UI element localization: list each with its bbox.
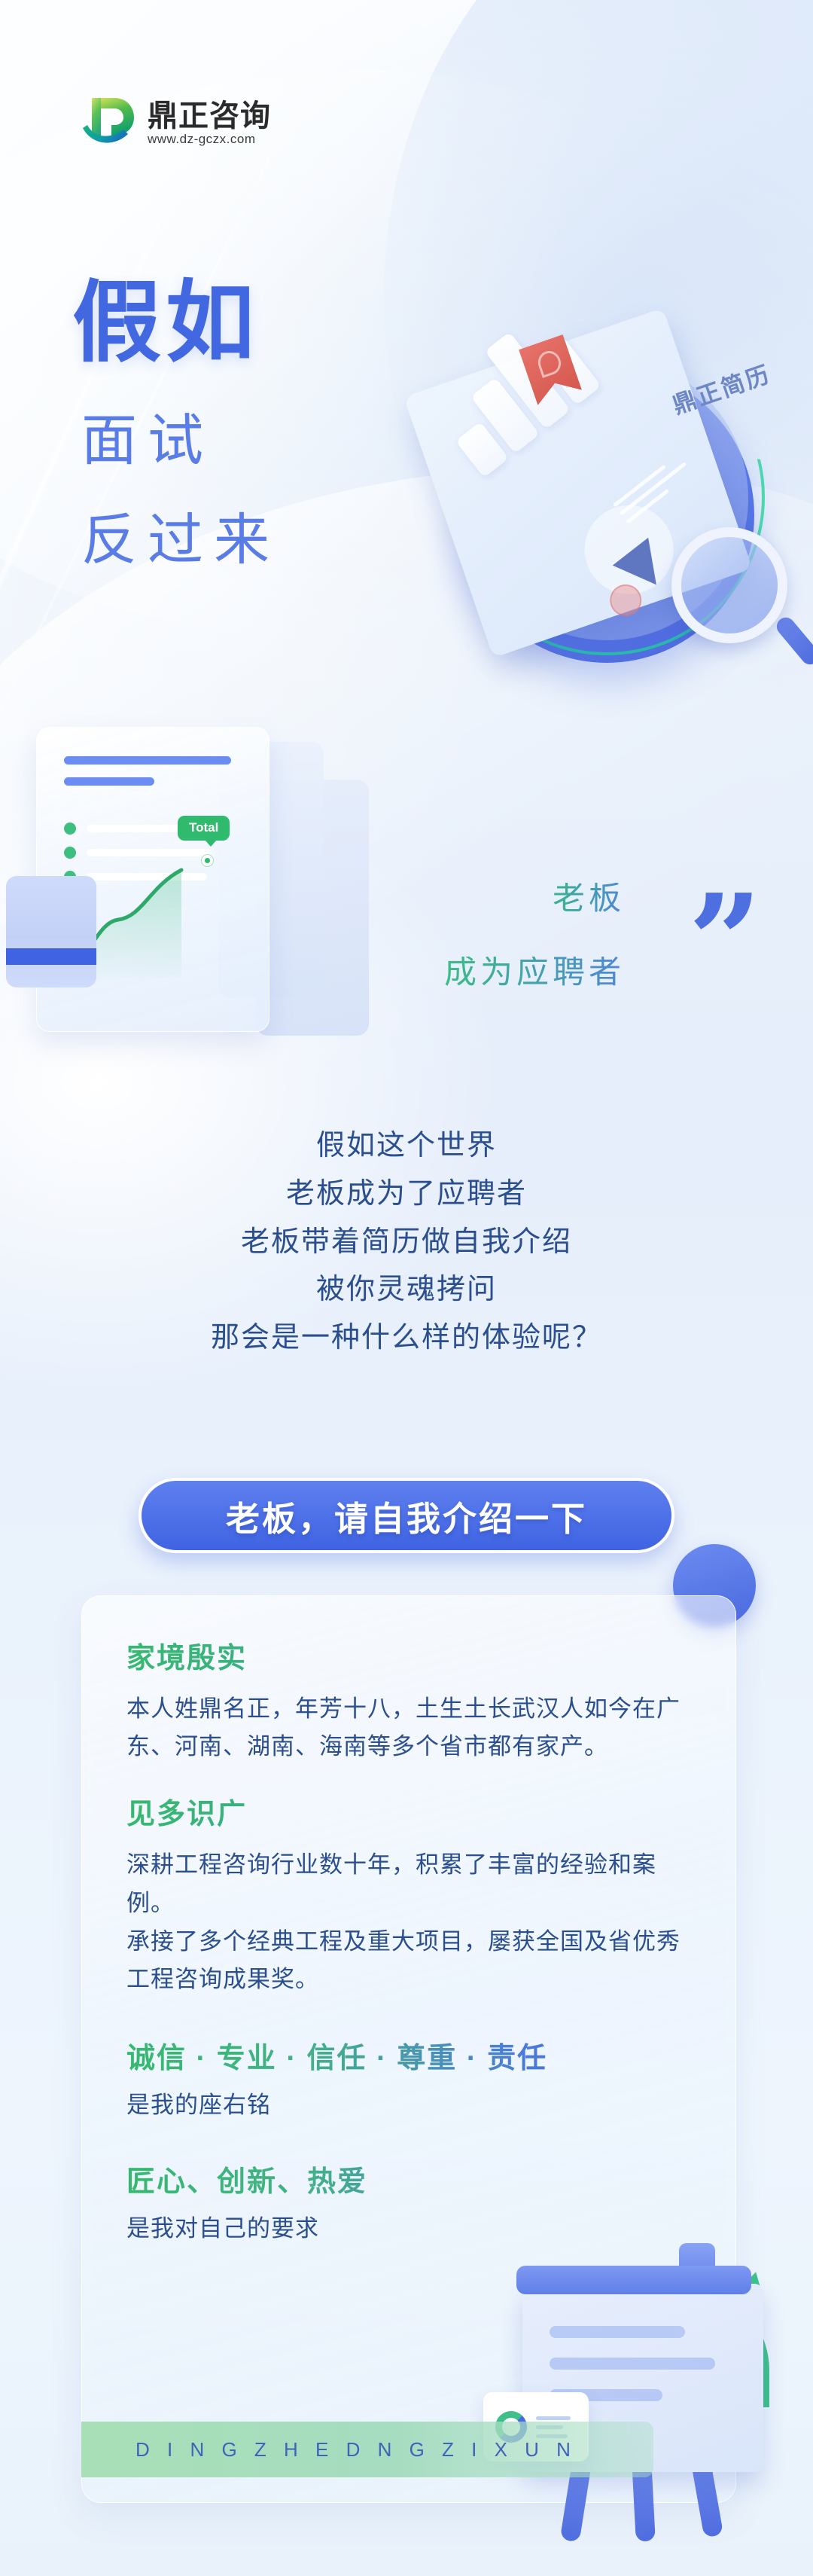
easel-illustration <box>477 2237 778 2553</box>
easel-board-header <box>516 2266 751 2294</box>
resume-title: 鼎正简历 <box>667 355 775 420</box>
poster-page: 鼎正咨询 www.dz-gczx.com 假如 面试 反过来 <box>0 0 813 2576</box>
motto-block: 诚信 · 专业 · 信任 · 尊重 · 责任 是我的座右铭 <box>126 2041 699 2123</box>
chart-tooltip: Total <box>178 816 230 841</box>
hero-title-line-1: 假如 <box>72 279 259 368</box>
logo-website-url: www.dz-gczx.com <box>148 133 271 145</box>
dingzheng-leaf-logo-icon <box>81 96 137 149</box>
logo-company-name: 鼎正咨询 <box>148 101 271 131</box>
hero-section: 假如 面试 反过来 <box>0 249 813 746</box>
motto-block: 匠心、创新、热爱 是我对自己的要求 <box>126 2165 699 2246</box>
motto-subtitle: 是我的座右铭 <box>126 2088 699 2123</box>
quote-line-2: 成为应聘者 <box>444 957 625 989</box>
intro-line: 那会是一种什么样的体验呢？ <box>0 1314 813 1363</box>
quote-line-1: 老板 <box>553 883 625 915</box>
profile-section-body: 深耕工程咨询行业数十年，积累了丰富的经验和案例。 承接了多个经典工程及重大项目，… <box>126 1846 699 1999</box>
intro-line: 老板成为了应聘者 <box>0 1170 813 1219</box>
profile-content-inner: 家境殷实 本人姓鼎名正，年芳十八，土生土长武汉人如今在广东、河南、湖南、海南等多… <box>126 1642 699 2278</box>
profile-section-title: 家境殷实 <box>126 1642 699 1677</box>
footer-pinyin: D I N G Z H E D N G Z I X U N <box>135 2438 577 2462</box>
motto-title: 诚信 · 专业 · 信任 · 尊重 · 责任 <box>126 2041 699 2077</box>
footer-bar: D I N G Z H E D N G Z I X U N <box>81 2422 653 2477</box>
brand-logo[interactable]: 鼎正咨询 www.dz-gczx.com <box>81 96 271 149</box>
chart-data-point <box>202 855 213 866</box>
quote-section: 老板 成为应聘者 ” <box>0 866 813 1062</box>
quotation-mark-icon: ” <box>688 902 762 981</box>
profile-section-title: 见多识广 <box>126 1798 699 1833</box>
profile-section: 见多识广 深耕工程咨询行业数十年，积累了丰富的经验和案例。 承接了多个经典工程及… <box>126 1798 699 1999</box>
hero-title-line-2: 面试 <box>81 413 214 469</box>
profile-section: 家境殷实 本人姓鼎名正，年芳十八，土生土长武汉人如今在广东、河南、湖南、海南等多… <box>126 1642 699 1766</box>
hero-title-line-3: 反过来 <box>81 512 280 568</box>
magnifying-glass-icon <box>671 527 787 643</box>
cta-button[interactable]: 老板，请自我介绍一下 <box>139 1478 674 1553</box>
bullet-dot-icon <box>64 823 76 835</box>
intro-line: 假如这个世界 <box>0 1122 813 1170</box>
motto-title: 匠心、创新、热爱 <box>126 2165 699 2201</box>
intro-paragraph: 假如这个世界 老板成为了应聘者 老板带着简历做自我介绍 被你灵魂拷问 那会是一种… <box>0 1122 813 1363</box>
resume-illustration: 鼎正简历 <box>438 324 792 700</box>
cta-button-label: 老板，请自我介绍一下 <box>226 1491 587 1540</box>
intro-line: 被你灵魂拷问 <box>0 1266 813 1314</box>
profile-section-body: 本人姓鼎名正，年芳十八，土生土长武汉人如今在广东、河南、湖南、海南等多个省市都有… <box>126 1690 699 1767</box>
intro-line: 老板带着简历做自我介绍 <box>0 1219 813 1267</box>
